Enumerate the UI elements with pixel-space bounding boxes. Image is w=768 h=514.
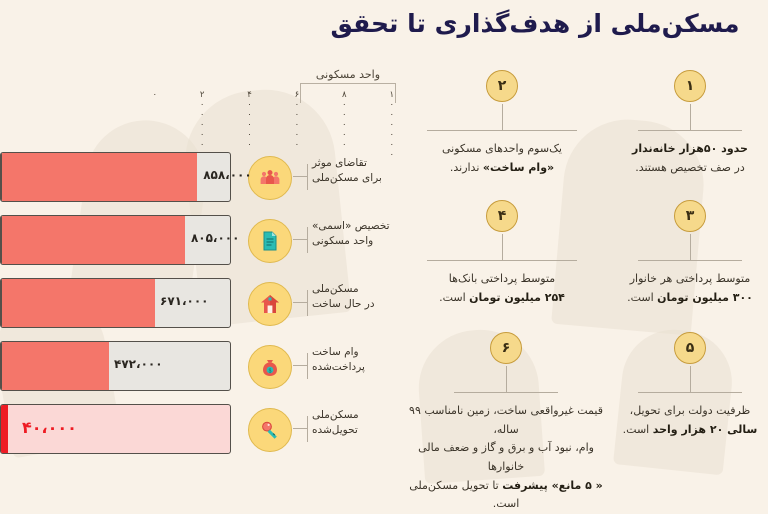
fact-card: ۲یک‌سوم واحدهای مسکونی«وام ساخت» ندارند.: [422, 70, 582, 177]
people-icon: [248, 156, 292, 200]
card-text-line: « ۵ مانع» پیشرفت تا تحویل مسکن‌ملی است.: [406, 477, 606, 514]
card-text: ظرفیت دولت برای تحویل،سالی ۲۰ هزار واحد …: [616, 402, 764, 439]
card-text: قیمت غیرواقعی ساخت، زمین نامناسب ۹۹ ساله…: [406, 402, 606, 514]
bar-value-label: ۶۷۱،۰۰۰: [160, 276, 209, 326]
fact-card: ۳متوسط پرداختی هر خانوار۳۰۰ میلیون تومان…: [616, 200, 764, 307]
card-text-line: «وام ساخت» ندارند.: [422, 159, 582, 178]
bar-chart: واحد مسکونی ۰۲۰۰۰۰۰۴۰۰۰۰۰۶۰۰۰۰۰۸۰۰۰۰۰۱۰۰…: [0, 62, 400, 422]
bar-value-label: ۸۰۵،۰۰۰: [191, 213, 240, 263]
bar-row-label: مسکن‌ملیدر حال ساخت: [312, 282, 396, 312]
fact-card: ۵ظرفیت دولت برای تحویل،سالی ۲۰ هزار واحد…: [616, 332, 764, 439]
card-text-line: یک‌سوم واحدهای مسکونی: [422, 140, 582, 159]
card-text-line: حدود ۵۰هزار خانه‌ندار: [616, 140, 764, 159]
bar-row-label: تخصیص «اسمی»واحد مسکونی: [312, 219, 396, 249]
bar-rows: تقاضای موثربرای مسکن‌ملی۸۵۸،۰۰۰تخصیص «اس…: [0, 150, 400, 465]
card-divider: [427, 130, 577, 131]
bar-row-label: وام ساختپرداخت‌شده: [312, 345, 396, 375]
connector-line: [293, 416, 308, 442]
bar-value-label: ۸۵۸،۰۰۰: [203, 150, 252, 200]
card-divider: [638, 260, 742, 261]
card-text: یک‌سوم واحدهای مسکونی«وام ساخت» ندارند.: [422, 140, 582, 177]
axis-tick-label: ۰: [150, 90, 159, 100]
connector-line: [293, 164, 308, 190]
card-text-line: ۲۵۴ میلیون تومان است.: [422, 289, 582, 308]
axis-tick-label: ۲۰۰۰۰۰: [198, 90, 207, 150]
axis-ticks: ۰۲۰۰۰۰۰۴۰۰۰۰۰۶۰۰۰۰۰۸۰۰۰۰۰۱۰۰۰۰۰۰: [140, 90, 385, 148]
card-text-line: ظرفیت دولت برای تحویل،: [616, 402, 764, 421]
document-icon: [248, 219, 292, 263]
card-text: متوسط پرداختی هر خانوار۳۰۰ میلیون تومان …: [616, 270, 764, 307]
svg-text:$: $: [269, 368, 272, 374]
axis-tick-label: ۶۰۰۰۰۰: [292, 90, 301, 150]
card-text: حدود ۵۰هزار خانه‌نداردر صف تخصیص هستند.: [616, 140, 764, 177]
card-divider: [454, 392, 558, 393]
connector-line: [293, 290, 308, 316]
axis-tick-label: ۸۰۰۰۰۰: [340, 90, 349, 150]
card-number-badge: ۳: [674, 200, 706, 232]
bar-value-label: ۴۰،۰۰۰: [22, 402, 77, 452]
bar-fill: [1, 153, 197, 201]
bar-value-label: ۴۷۲،۰۰۰: [114, 339, 163, 389]
card-number-badge: ۲: [486, 70, 518, 102]
card-stem: [506, 366, 507, 392]
connector-line: [293, 227, 308, 253]
bar-row-label: مسکن‌ملیتحویل‌شده: [312, 408, 396, 438]
page-title: مسکن‌ملی از هدف‌گذاری تا تحقق: [320, 8, 750, 39]
connector-line: [293, 353, 308, 379]
fact-card: ۴متوسط پرداختی بانک‌ها۲۵۴ میلیون تومان ا…: [422, 200, 582, 307]
bar-row: مسکن‌ملیتحویل‌شده۴۰،۰۰۰: [0, 402, 400, 457]
card-text-line: متوسط پرداختی بانک‌ها: [422, 270, 582, 289]
axis-tick-label: ۴۰۰۰۰۰: [245, 90, 254, 150]
bar-row: مسکن‌ملیدر حال ساخت۶۷۱،۰۰۰: [0, 276, 400, 331]
card-divider: [638, 392, 742, 393]
card-stem: [502, 104, 503, 130]
bar-row: تخصیص «اسمی»واحد مسکونی۸۰۵،۰۰۰: [0, 213, 400, 268]
card-number-badge: ۱: [674, 70, 706, 102]
house-icon: [248, 282, 292, 326]
card-text-line: متوسط پرداختی هر خانوار: [616, 270, 764, 289]
bar-fill: [1, 342, 109, 390]
bar-row: تقاضای موثربرای مسکن‌ملی۸۵۸،۰۰۰: [0, 150, 400, 205]
key-icon: [248, 408, 292, 452]
card-stem: [690, 104, 691, 130]
card-text-line: در صف تخصیص هستند.: [616, 159, 764, 178]
bar-fill: [1, 279, 155, 327]
card-text-line: قیمت غیرواقعی ساخت، زمین نامناسب ۹۹ ساله…: [406, 402, 606, 439]
fact-cards: ۱حدود ۵۰هزار خانه‌نداردر صف تخصیص هستند.…: [406, 70, 764, 480]
axis-unit-label: واحد مسکونی: [300, 68, 396, 81]
card-number-badge: ۵: [674, 332, 706, 364]
fact-card: ۶قیمت غیرواقعی ساخت، زمین نامناسب ۹۹ سال…: [406, 332, 606, 514]
card-stem: [690, 366, 691, 392]
bar-track: [0, 152, 231, 202]
card-stem: [690, 234, 691, 260]
card-text-line: سالی ۲۰ هزار واحد است.: [616, 421, 764, 440]
card-divider: [427, 260, 577, 261]
card-text: متوسط پرداختی بانک‌ها۲۵۴ میلیون تومان اس…: [422, 270, 582, 307]
money-bag-icon: $: [248, 345, 292, 389]
card-text-line: وام، نبود آب و برق و گاز و ضعف مالی خانو…: [406, 439, 606, 476]
bar-fill: [1, 405, 8, 453]
card-number-badge: ۴: [486, 200, 518, 232]
fact-card: ۱حدود ۵۰هزار خانه‌نداردر صف تخصیص هستند.: [616, 70, 764, 177]
bar-row: وام ساختپرداخت‌شده$۴۷۲،۰۰۰: [0, 339, 400, 394]
card-number-badge: ۶: [490, 332, 522, 364]
bar-row-label: تقاضای موثربرای مسکن‌ملی: [312, 156, 396, 186]
card-divider: [638, 130, 742, 131]
bar-fill: [1, 216, 185, 264]
card-stem: [502, 234, 503, 260]
card-text-line: ۳۰۰ میلیون تومان است.: [616, 289, 764, 308]
